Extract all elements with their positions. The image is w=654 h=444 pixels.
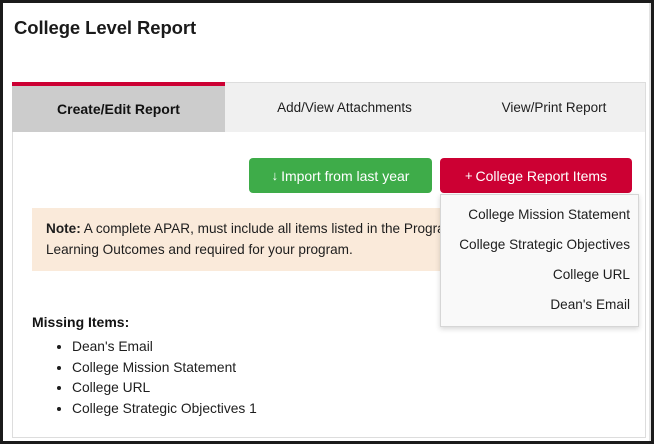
page-title: College Level Report [14,17,196,39]
tab-add-view-attachments[interactable]: Add/View Attachments [232,82,457,132]
plus-icon: + [465,168,473,183]
note-label: Note: [46,221,81,236]
browser-viewport: College Level Report Create/Edit Report … [0,0,654,444]
tab-label: Create/Edit Report [57,101,180,117]
menu-item-college-strategic-objectives[interactable]: College Strategic Objectives [441,230,638,260]
tab-create-edit-report[interactable]: Create/Edit Report [12,82,225,132]
menu-item-college-mission-statement[interactable]: College Mission Statement [441,200,638,230]
missing-items-list: Dean's Email College Mission Statement C… [32,337,257,419]
list-item: College URL [72,378,257,399]
action-button-row: ↓ Import from last year + College Report… [13,158,645,194]
college-report-items-dropdown-menu: College Mission Statement College Strate… [440,194,639,327]
list-item: College Strategic Objectives 1 [72,399,257,420]
tab-label: Add/View Attachments [277,100,412,115]
tab-label: View/Print Report [502,100,607,115]
tab-strip: Create/Edit Report Add/View Attachments … [12,82,646,132]
add-button-label: College Report Items [476,168,608,184]
menu-item-college-url[interactable]: College URL [441,260,638,290]
list-item: College Mission Statement [72,358,257,379]
page-container: College Level Report Create/Edit Report … [3,3,651,441]
import-from-last-year-button[interactable]: ↓ Import from last year [249,158,432,193]
add-college-report-items-button[interactable]: + College Report Items [440,158,632,193]
tab-view-print-report[interactable]: View/Print Report [461,82,647,132]
missing-items-heading: Missing Items: [32,314,129,330]
down-arrow-icon: ↓ [272,168,279,183]
tab-panel-create-edit-report: ↓ Import from last year + College Report… [12,132,646,438]
list-item: Dean's Email [72,337,257,358]
menu-item-deans-email[interactable]: Dean's Email [441,290,638,320]
import-button-label: Import from last year [281,168,409,184]
